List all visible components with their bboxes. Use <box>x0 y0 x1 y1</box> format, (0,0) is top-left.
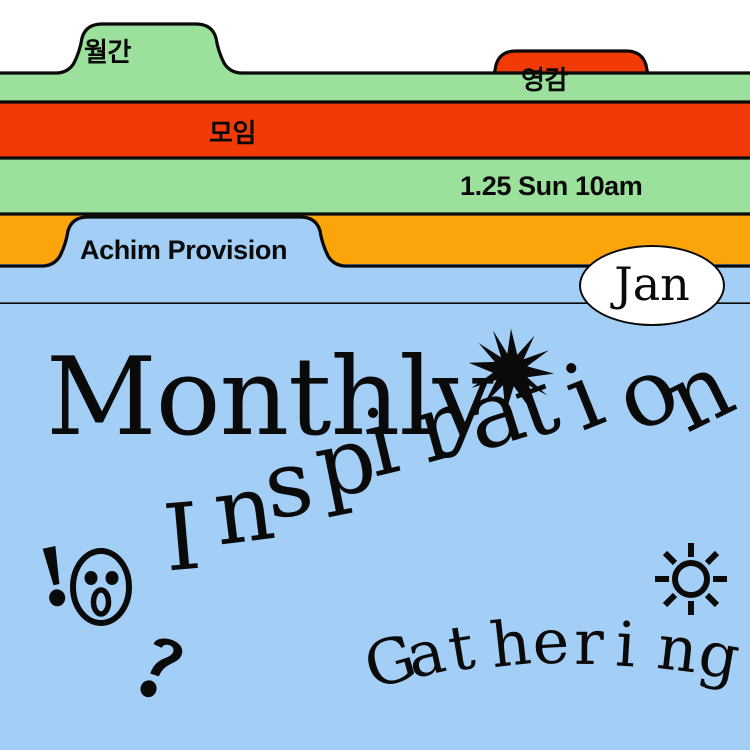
surprised-face-icon <box>66 545 136 629</box>
tab-label-datetime: 1.25 Sun 10am <box>460 171 642 202</box>
sun-icon <box>653 541 729 617</box>
starburst-icon <box>466 325 556 415</box>
main-blue-field <box>0 264 750 750</box>
tab-label-brand: Achim Provision <box>80 235 287 266</box>
tab-label-moim: 모임 <box>209 113 256 150</box>
month-badge-label: Jan <box>614 261 690 307</box>
question-mark-icon <box>134 632 190 708</box>
tab-label-yeonggam: 영감 <box>521 60 568 97</box>
month-badge[interactable]: Jan <box>579 245 725 326</box>
poster-canvas: 월간 영감 모임 1.25 Sun 10am Achim Provision A… <box>0 0 750 750</box>
tab-label-wolgan: 월간 <box>84 32 131 69</box>
